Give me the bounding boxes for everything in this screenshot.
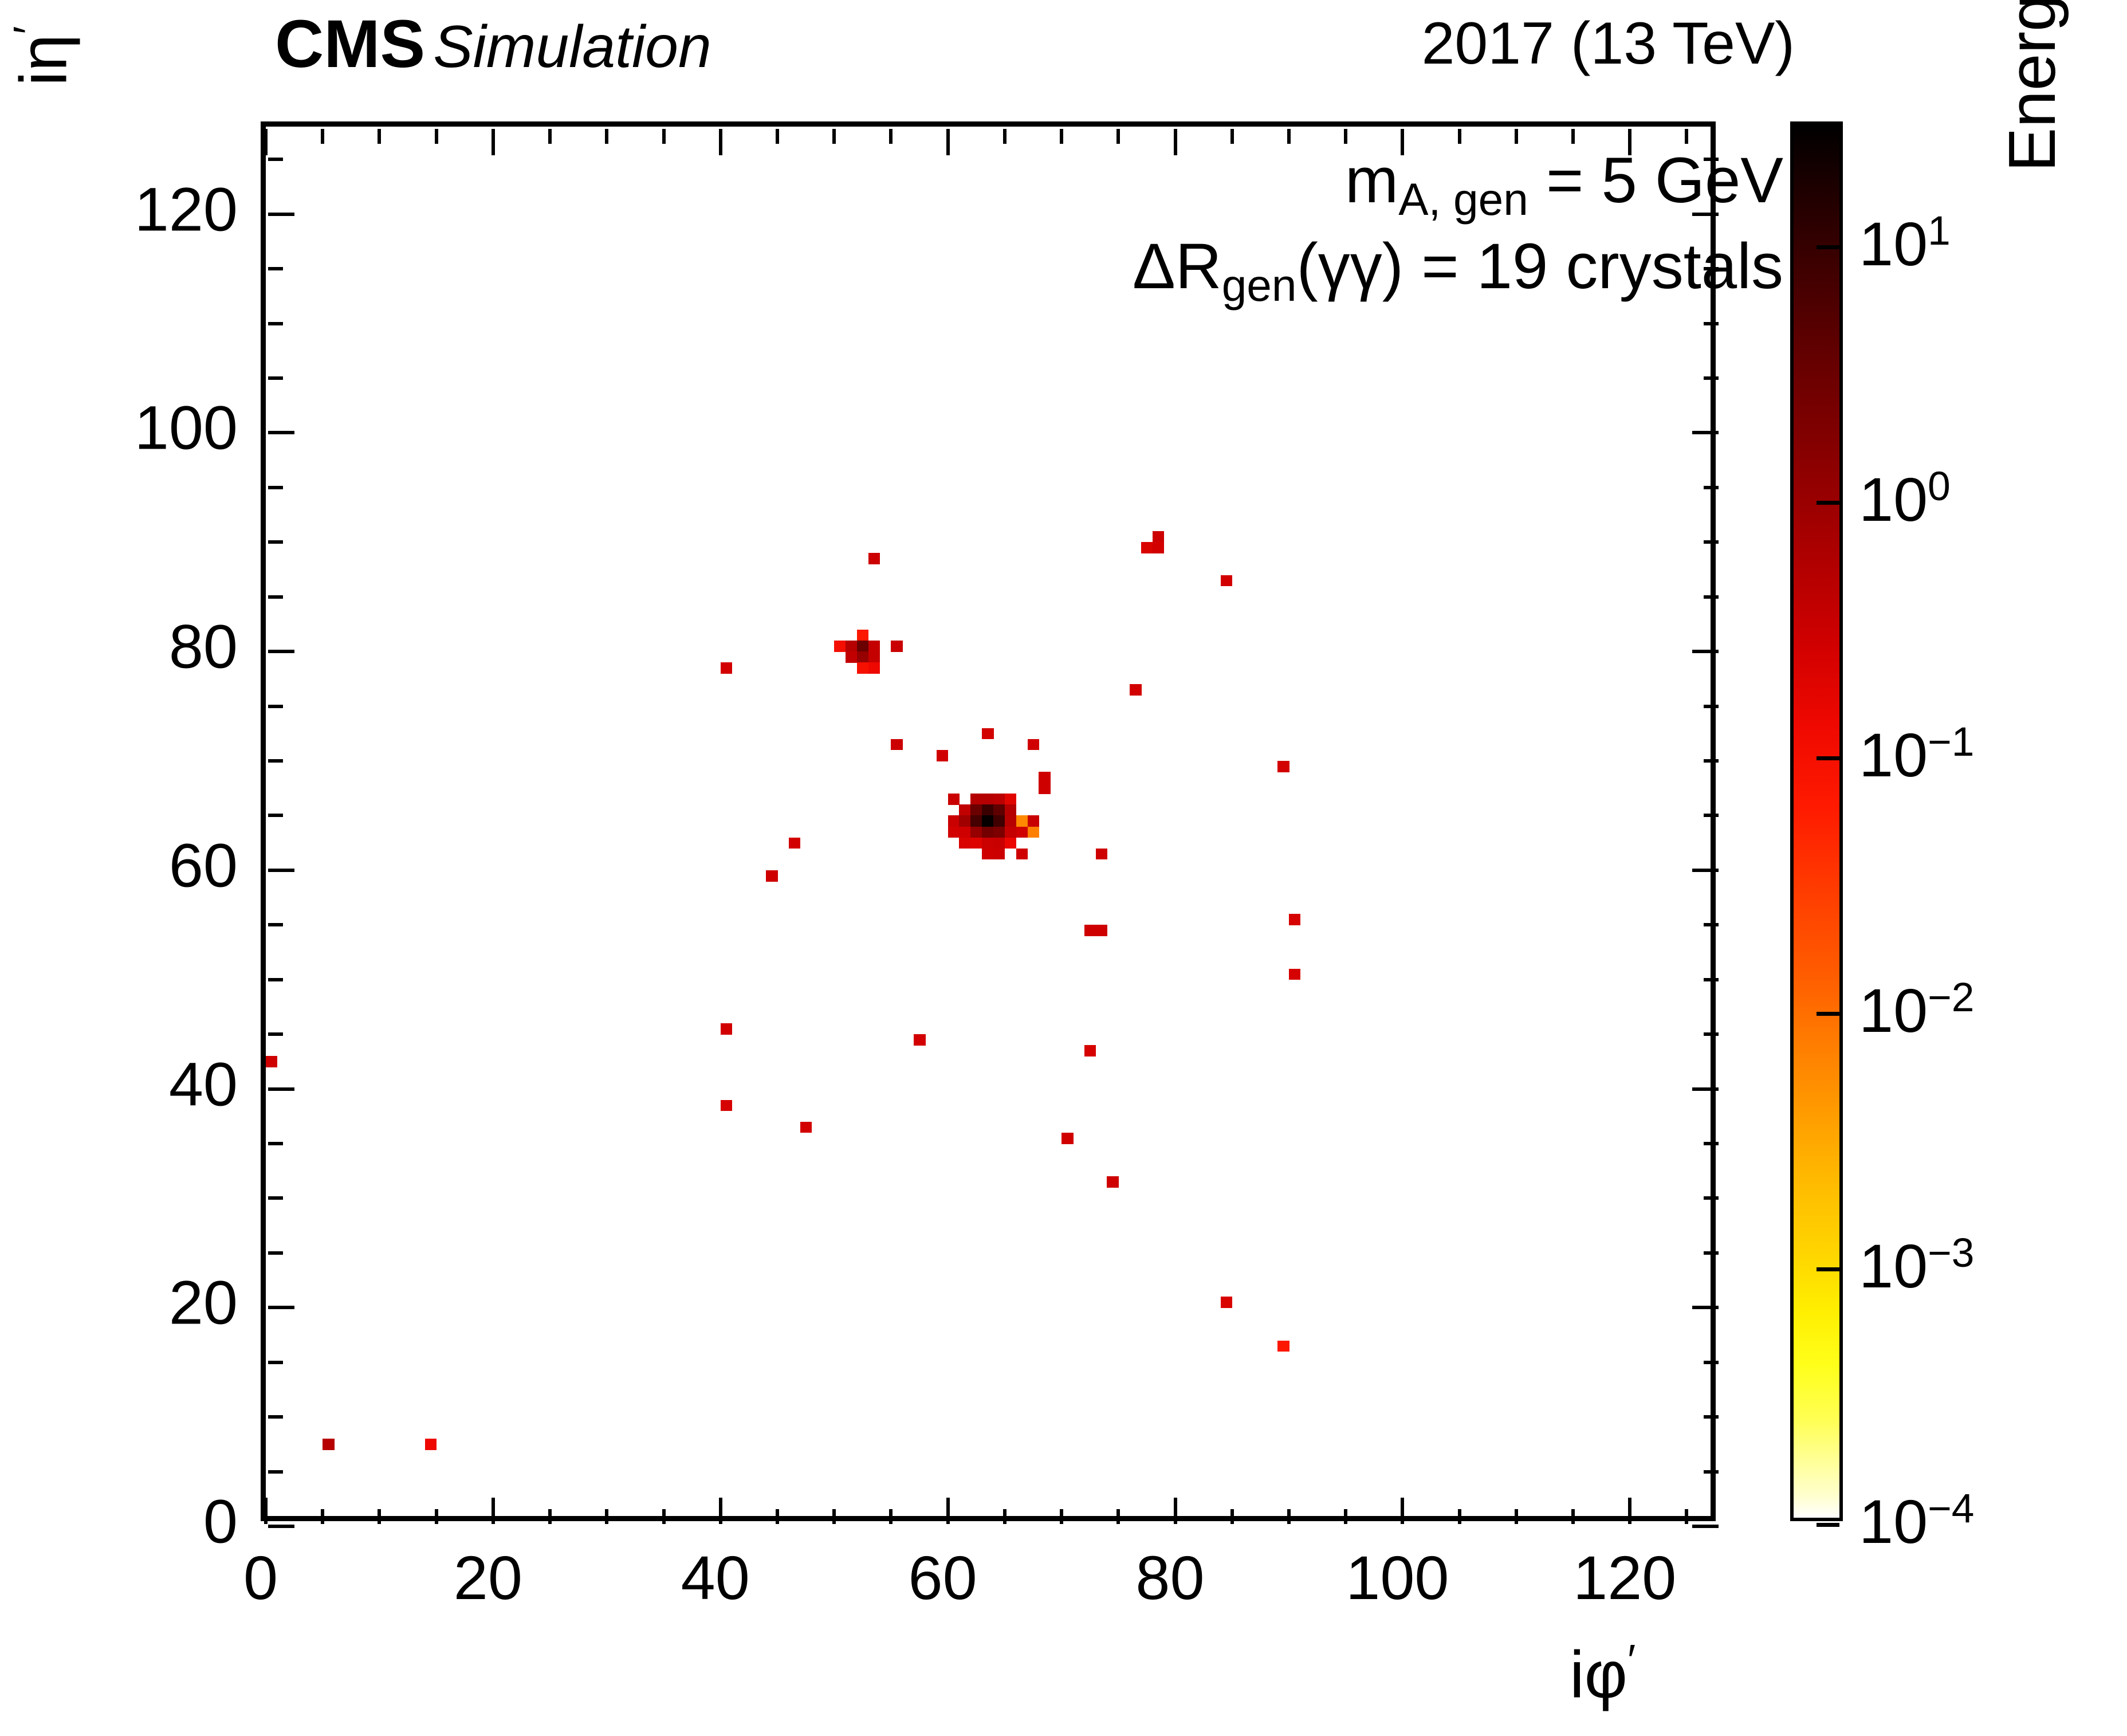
heatmap-cell	[1005, 794, 1016, 805]
colorbar-tick-base: 10	[1859, 209, 1928, 278]
colorbar-tick	[1817, 1012, 1839, 1016]
y-tick-right	[1692, 1525, 1719, 1528]
heatmap-cell	[970, 804, 982, 816]
colorbar-tick-base: 10	[1859, 720, 1928, 790]
colorbar-tick	[1817, 1267, 1839, 1271]
x-tick-bottom	[1401, 1498, 1404, 1524]
y-axis-title-prime: ′	[5, 26, 54, 34]
x-tick-top	[1287, 129, 1291, 144]
heatmap-cell	[766, 870, 777, 882]
heatmap-cell	[982, 838, 993, 849]
heatmap-cell	[1039, 783, 1050, 794]
y-tick-right	[1704, 1142, 1719, 1145]
heatmap-cell	[1141, 542, 1153, 553]
x-tick-top	[1685, 129, 1688, 144]
heatmap-cell	[857, 630, 868, 641]
x-tick-top	[548, 129, 552, 144]
x-tick-bottom	[776, 1509, 779, 1524]
y-tick-right	[1704, 1470, 1719, 1474]
x-tick-bottom	[1628, 1498, 1631, 1524]
y-tick-left	[268, 759, 283, 763]
colorbar-tick-exponent: 1	[1928, 208, 1951, 254]
heatmap-cell	[959, 838, 970, 849]
heatmap-cell	[1016, 849, 1028, 860]
heatmap-cell	[959, 815, 970, 827]
y-tick-label: 120	[95, 173, 238, 245]
colorbar-tick-base: 10	[1859, 1487, 1928, 1556]
x-tick-top	[1458, 129, 1461, 144]
heatmap-cell	[789, 838, 800, 849]
y-tick-right	[1704, 1196, 1719, 1200]
heatmap-cell	[891, 739, 902, 751]
x-tick-bottom	[492, 1498, 495, 1524]
y-tick-left	[268, 1525, 294, 1528]
x-tick-bottom	[889, 1509, 893, 1524]
y-tick-left	[268, 1306, 294, 1309]
x-tick-top	[605, 129, 608, 144]
y-axis-title: iη′	[5, 26, 81, 86]
y-tick-left	[268, 1142, 283, 1145]
x-axis-title: iφ′	[1570, 1636, 1635, 1713]
x-tick-bottom	[548, 1509, 552, 1524]
y-tick-left	[268, 322, 283, 325]
heatmap-cell	[868, 553, 880, 564]
y-tick-left	[268, 267, 283, 270]
luminosity-energy-label: 2017 (13 TeV)	[1422, 14, 1795, 73]
x-tick-bottom	[1230, 1509, 1234, 1524]
heatmap-cell	[982, 794, 993, 805]
colorbar-tick-label: 100	[1859, 463, 1951, 535]
y-tick-label: 80	[95, 611, 238, 682]
x-tick-top	[1344, 129, 1347, 144]
annotation-deltar: ΔRgen(γγ) = 19 crystals	[1133, 229, 1783, 312]
x-tick-label: 80	[1135, 1542, 1204, 1613]
y-tick-left	[268, 376, 283, 380]
colorbar	[1790, 121, 1843, 1521]
colorbar-tick-exponent: −3	[1928, 1230, 1974, 1276]
colorbar-tick-exponent: 0	[1928, 464, 1951, 509]
heatmap-cell	[914, 1034, 925, 1046]
x-tick-bottom	[1458, 1509, 1461, 1524]
x-tick-top	[435, 129, 438, 144]
heatmap-cell	[982, 804, 993, 816]
heatmap-cell	[993, 827, 1005, 838]
heatmap-cell	[982, 827, 993, 838]
y-tick-right	[1704, 376, 1719, 380]
x-tick-bottom	[1174, 1498, 1177, 1524]
heatmap-cell	[1221, 1297, 1232, 1308]
x-tick-top	[832, 129, 836, 144]
y-tick-left	[268, 1032, 283, 1036]
x-tick-label: 60	[909, 1542, 977, 1613]
cms-logo: CMSSimulation	[275, 10, 711, 78]
x-tick-bottom	[1116, 1509, 1120, 1524]
x-tick-bottom	[378, 1509, 381, 1524]
colorbar-gradient	[1794, 125, 1839, 1518]
y-tick-left	[268, 540, 283, 544]
x-tick-bottom	[1287, 1509, 1291, 1524]
heatmap-cell	[721, 1100, 732, 1111]
plot-frame	[261, 121, 1716, 1521]
y-tick-left	[268, 213, 294, 216]
x-axis-title-symbol: φ	[1585, 1637, 1627, 1711]
y-tick-right	[1692, 1087, 1719, 1091]
heatmap-cell	[868, 641, 880, 652]
heatmap-cell	[1153, 542, 1164, 553]
y-tick-right	[1692, 1306, 1719, 1309]
y-tick-label: 100	[95, 392, 238, 464]
x-tick-bottom	[1515, 1509, 1518, 1524]
cms-simulation-label: Simulation	[425, 14, 711, 80]
heatmap-cell	[970, 815, 982, 827]
heatmap-cell	[982, 849, 993, 860]
heatmap-cell	[834, 641, 846, 652]
colorbar-title: Energy [GeV]	[1994, 0, 2070, 172]
heatmap-cell	[1221, 575, 1232, 587]
heatmap-cell	[993, 815, 1005, 827]
y-tick-left	[268, 1251, 283, 1255]
y-tick-right	[1704, 978, 1719, 981]
y-tick-left	[268, 158, 283, 161]
colorbar-tick-label: 10−4	[1859, 1485, 1974, 1557]
colorbar-tick-label: 10−2	[1859, 974, 1974, 1046]
heatmap-cell	[948, 794, 960, 805]
heatmap-cell	[993, 804, 1005, 816]
x-tick-bottom	[605, 1509, 608, 1524]
heatmap-cell	[1153, 531, 1164, 543]
colorbar-tick	[1817, 1523, 1839, 1527]
heatmap-cell	[948, 815, 960, 827]
colorbar-tick-exponent: −4	[1928, 1486, 1974, 1531]
colorbar-tick	[1817, 501, 1839, 505]
heatmap-cell	[1107, 1176, 1118, 1188]
x-tick-top	[1003, 129, 1007, 144]
x-tick-bottom	[662, 1509, 666, 1524]
y-tick-right	[1704, 486, 1719, 489]
y-tick-left	[268, 1415, 283, 1419]
heatmap-cell	[846, 641, 857, 652]
x-tick-bottom	[1003, 1509, 1007, 1524]
colorbar-tick-label: 10−3	[1859, 1230, 1974, 1302]
heatmap-cell	[1130, 684, 1141, 696]
heatmap-cell	[1084, 1045, 1096, 1056]
colorbar-tick	[1817, 756, 1839, 760]
y-tick-right	[1704, 759, 1719, 763]
annotation-mass-prefix: m	[1345, 144, 1398, 216]
heatmap-cell	[846, 651, 857, 663]
heatmap-cell	[1016, 815, 1028, 827]
heatmap-cell	[1277, 761, 1289, 772]
x-tick-top	[776, 129, 779, 144]
annotation-mass-value: = 5 GeV	[1528, 144, 1783, 216]
y-tick-right	[1704, 595, 1719, 599]
heatmap-cells-layer	[266, 127, 1711, 1516]
heatmap-cell	[1005, 815, 1016, 827]
heatmap-cell	[1039, 772, 1050, 783]
x-tick-bottom	[832, 1509, 836, 1524]
heatmap-cell	[1084, 925, 1096, 936]
heatmap-cell	[323, 1439, 334, 1450]
x-tick-top	[1515, 129, 1518, 144]
annotation-mass: mA, gen = 5 GeV	[1345, 143, 1783, 226]
x-tick-bottom	[435, 1509, 438, 1524]
y-tick-right	[1692, 650, 1719, 653]
heatmap-cell	[982, 815, 993, 827]
y-tick-label: 60	[95, 829, 238, 901]
x-tick-label: 100	[1346, 1542, 1449, 1613]
heatmap-cell	[970, 827, 982, 838]
y-tick-left	[268, 431, 294, 434]
y-tick-right	[1704, 1415, 1719, 1419]
heatmap-cell	[721, 1023, 732, 1035]
heatmap-cell	[959, 827, 970, 838]
cms-experiment-label: CMS	[275, 6, 425, 82]
y-tick-left	[268, 1087, 294, 1091]
x-tick-top	[321, 129, 324, 144]
heatmap-cell	[970, 838, 982, 849]
annotation-deltar-prefix: ΔR	[1133, 230, 1222, 302]
heatmap-cell	[1061, 1133, 1073, 1144]
x-tick-bottom	[1685, 1509, 1688, 1524]
y-tick-right	[1692, 431, 1719, 434]
annotation-deltar-subscript: gen	[1222, 260, 1297, 311]
heatmap-cell	[1028, 815, 1039, 827]
y-tick-left	[268, 1470, 283, 1474]
x-tick-bottom	[719, 1498, 722, 1524]
colorbar-tick-base: 10	[1859, 976, 1928, 1045]
x-tick-top	[889, 129, 893, 144]
x-tick-label: 40	[681, 1542, 750, 1613]
x-tick-bottom	[946, 1498, 950, 1524]
y-tick-label: 0	[95, 1486, 238, 1557]
colorbar-tick-exponent: −1	[1928, 719, 1974, 765]
heatmap-cell	[266, 1056, 277, 1067]
heatmap-cell	[1005, 838, 1016, 849]
annotation-deltar-value: (γγ) = 19 crystals	[1296, 230, 1783, 302]
x-axis-title-i: i	[1570, 1637, 1585, 1711]
x-tick-top	[378, 129, 381, 144]
colorbar-tick-base: 10	[1859, 465, 1928, 534]
heatmap-cell	[982, 728, 993, 740]
y-tick-right	[1704, 322, 1719, 325]
y-tick-right	[1704, 923, 1719, 926]
x-tick-top	[1116, 129, 1120, 144]
colorbar-tick-exponent: −2	[1928, 975, 1974, 1020]
y-tick-left	[268, 705, 283, 708]
y-tick-left	[268, 814, 283, 817]
x-tick-label: 120	[1573, 1542, 1676, 1613]
y-tick-left	[268, 923, 283, 926]
heatmap-cell	[1096, 849, 1107, 860]
y-tick-right	[1704, 814, 1719, 817]
heatmap-cell	[857, 641, 868, 652]
colorbar-tick-base: 10	[1859, 1231, 1928, 1301]
heatmap-cell	[857, 662, 868, 674]
x-tick-top	[946, 129, 950, 155]
heatmap-cell	[1289, 969, 1300, 980]
heatmap-cell	[868, 662, 880, 674]
heatmap-cell	[993, 849, 1005, 860]
y-tick-label: 40	[95, 1048, 238, 1120]
x-tick-bottom	[321, 1509, 324, 1524]
heatmap-cell	[800, 1122, 812, 1133]
heatmap-cell	[1028, 827, 1039, 838]
y-tick-right	[1692, 869, 1719, 872]
x-tick-label: 0	[243, 1542, 278, 1613]
heatmap-cell	[857, 651, 868, 663]
heatmap-cell	[970, 794, 982, 805]
heatmap-cell	[1096, 925, 1107, 936]
x-tick-top	[492, 129, 495, 155]
heatmap-cell	[1028, 739, 1039, 751]
x-tick-top	[1174, 129, 1177, 155]
x-tick-bottom	[1060, 1509, 1063, 1524]
y-tick-left	[268, 595, 283, 599]
y-axis-title-i: i	[6, 71, 80, 86]
heatmap-cell	[959, 804, 970, 816]
heatmap-cell	[948, 827, 960, 838]
y-tick-left	[268, 1361, 283, 1364]
x-tick-bottom	[1344, 1509, 1347, 1524]
y-tick-label: 20	[95, 1267, 238, 1338]
annotation-mass-subscript: A, gen	[1398, 174, 1528, 225]
x-tick-top	[1060, 129, 1063, 144]
y-tick-right	[1704, 1251, 1719, 1255]
heatmap-cell	[1277, 1341, 1289, 1352]
x-axis-title-prime: ′	[1627, 1636, 1635, 1685]
x-tick-top	[1230, 129, 1234, 144]
x-tick-label: 20	[454, 1542, 522, 1613]
heatmap-cell	[1016, 827, 1028, 838]
colorbar-tick-label: 10−1	[1859, 718, 1974, 791]
y-tick-right	[1704, 1032, 1719, 1036]
y-tick-left	[268, 1196, 283, 1200]
heatmap-cell	[891, 641, 902, 652]
heatmap-cell	[868, 651, 880, 663]
y-tick-right	[1704, 1361, 1719, 1364]
y-tick-left	[268, 978, 283, 981]
x-tick-top	[264, 129, 268, 155]
heatmap-cell	[1005, 827, 1016, 838]
heatmap-cell	[993, 794, 1005, 805]
heatmap-cell	[937, 750, 948, 761]
y-tick-left	[268, 650, 294, 653]
x-tick-top	[719, 129, 722, 155]
y-tick-right	[1704, 705, 1719, 708]
x-tick-top	[1571, 129, 1575, 144]
heatmap-cell	[993, 838, 1005, 849]
x-tick-bottom	[1571, 1509, 1575, 1524]
y-tick-left	[268, 869, 294, 872]
heatmap-cell	[721, 662, 732, 674]
x-tick-top	[662, 129, 666, 144]
y-tick-left	[268, 486, 283, 489]
colorbar-tick	[1817, 245, 1839, 249]
colorbar-tick-label: 101	[1859, 207, 1951, 280]
heatmap-cell	[425, 1439, 437, 1450]
heatmap-cell	[1289, 914, 1300, 925]
heatmap-cell	[1005, 804, 1016, 816]
y-axis-title-symbol: η	[6, 34, 80, 72]
y-tick-right	[1704, 540, 1719, 544]
x-tick-bottom	[264, 1498, 268, 1524]
